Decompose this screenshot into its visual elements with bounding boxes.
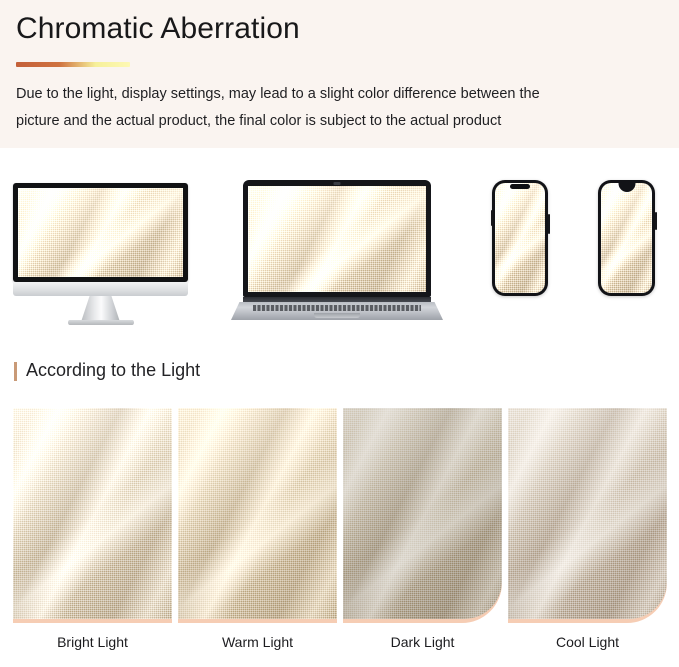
swatch-cell-warm-light[interactable]: Warm Light: [178, 408, 337, 667]
header-band: Chromatic Aberration Due to the light, d…: [0, 0, 679, 148]
android-power-button: [655, 212, 657, 230]
android-screen: [601, 183, 652, 293]
iphone-screen: [495, 183, 545, 293]
laptop-screen-fabric-image: [248, 186, 426, 292]
swatch-image-wrap: [343, 408, 502, 623]
laptop-icon: [231, 180, 443, 327]
iphone-volume-button: [491, 210, 493, 226]
disclaimer-text-line-2: picture and the actual product, the fina…: [16, 113, 501, 129]
swatch-label-cool-light: Cool Light: [508, 634, 667, 650]
monitor-screen-fabric-image: [18, 188, 183, 277]
swatch-image-wrap: [13, 408, 172, 623]
page-title: Chromatic Aberration: [16, 12, 300, 46]
section-heading: According to the Light: [0, 360, 679, 390]
desktop-monitor-icon: [13, 183, 188, 323]
laptop-hinge: [243, 297, 431, 302]
swatch-cell-bright-light[interactable]: Bright Light: [13, 408, 172, 667]
laptop-lid-bezel: [243, 180, 431, 297]
swatch-label-warm-light: Warm Light: [178, 634, 337, 650]
monitor-stand-neck: [81, 296, 120, 322]
swatch-cell-cool-light[interactable]: Cool Light: [508, 408, 667, 667]
swatch-label-dark-light: Dark Light: [343, 634, 502, 650]
swatch-fabric-image-dark-light: [343, 408, 502, 619]
swatch-image-wrap: [178, 408, 337, 623]
swatch-fabric-image-bright-light: [13, 408, 172, 619]
iphone-power-button: [548, 214, 550, 234]
dynamic-island-icon: [510, 184, 530, 189]
laptop-camera-icon: [334, 182, 341, 185]
swatch-label-bright-light: Bright Light: [13, 634, 172, 650]
section-heading-label: According to the Light: [26, 360, 200, 381]
section-accent-bar: [14, 362, 17, 381]
swatch-fabric-image-cool-light: [508, 408, 667, 619]
iphone-icon: [492, 180, 548, 296]
device-mockup-row: [0, 148, 679, 348]
swatch-fabric-image-warm-light: [178, 408, 337, 619]
monitor-chin: [13, 282, 188, 296]
laptop-trackpad: [314, 313, 360, 318]
swatch-cell-dark-light[interactable]: Dark Light: [343, 408, 502, 667]
iphone-screen-fabric-image: [495, 183, 545, 293]
swatch-image-wrap: [508, 408, 667, 623]
light-condition-swatch-grid: Bright Light Warm Light Dark Light Cool …: [0, 408, 679, 667]
laptop-keyboard-keys: [253, 305, 421, 311]
monitor-stand-base: [68, 320, 134, 325]
monitor-bezel: [13, 183, 188, 282]
title-accent-gradient-bar: [16, 62, 130, 67]
android-screen-fabric-image: [601, 183, 652, 293]
disclaimer-text-line-1: Due to the light, display settings, may …: [16, 86, 540, 102]
android-phone-icon: [598, 180, 655, 296]
